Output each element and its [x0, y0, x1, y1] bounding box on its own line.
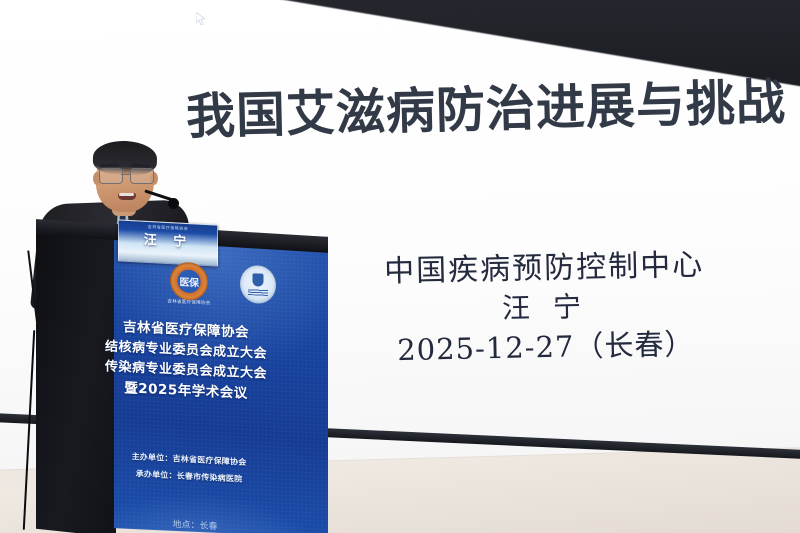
changchun-infectious-disease-hospital-logo	[240, 265, 276, 305]
slide-presenter-name: 汪 宁	[330, 285, 761, 330]
placard-name-text: 汪 宁	[119, 229, 217, 254]
jilin-medical-insurance-association-logo: 医保	[170, 262, 208, 302]
glasses-lens-left	[99, 168, 123, 184]
logo-text-lines	[248, 288, 268, 296]
slide-organization: 中国疾病预防控制中心	[329, 246, 760, 292]
podium-logo-row: 医保 吉林省医疗保障协会	[150, 259, 300, 312]
microphone-icon	[168, 198, 179, 209]
glasses-lens-right	[130, 168, 154, 184]
text-cursor-icon	[196, 12, 205, 25]
shield-icon	[253, 273, 264, 286]
conference-photo-scene: 我国艾滋病防治进展与挑战 中国疾病预防控制中心 汪 宁 2025-12-27（长…	[0, 0, 800, 533]
logo-mark-text: 医保	[180, 273, 199, 289]
glasses-bridge	[121, 174, 130, 175]
podium-banner-text: 吉林省医疗保障协会 结核病专业委员会成立大会 传染病专业委员会成立大会 暨202…	[86, 315, 286, 406]
slide-subtitle-block: 中国疾病预防控制中心 汪 宁 2025-12-27（长春）	[329, 246, 761, 372]
speaker-teeth	[119, 193, 134, 196]
glasses-icon	[98, 168, 154, 182]
